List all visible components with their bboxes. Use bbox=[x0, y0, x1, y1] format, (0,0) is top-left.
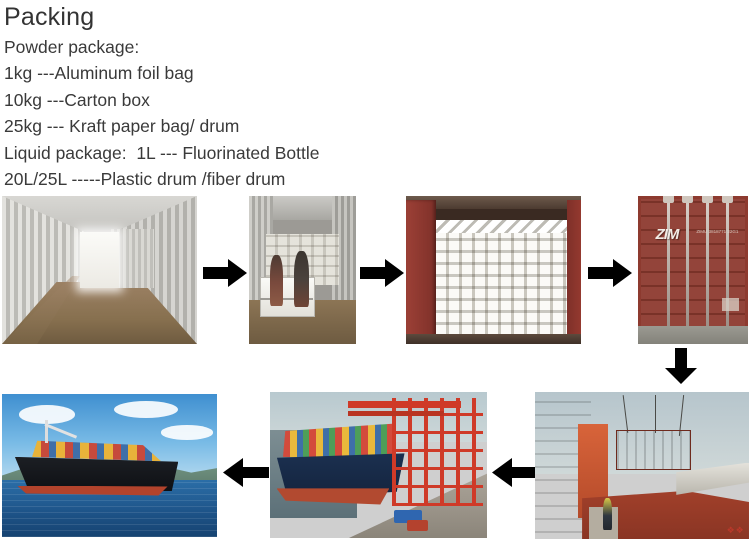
packing-detail-line: Powder package: bbox=[4, 34, 524, 60]
container-locking-rod bbox=[706, 199, 709, 332]
container-locking-rod bbox=[726, 199, 729, 332]
container-truck bbox=[407, 520, 429, 530]
stacked-bags bbox=[436, 220, 567, 334]
gantry-crane-boom bbox=[348, 411, 443, 416]
worker-figure bbox=[294, 251, 309, 307]
packing-detail-line: Liquid package: 1L --- Fluorinated Bottl… bbox=[4, 140, 524, 166]
photo-ship-at-sea bbox=[2, 394, 217, 537]
photo-empty-container bbox=[2, 196, 197, 344]
zim-logo-text: ZIM bbox=[656, 226, 679, 243]
packing-detail-line: 1kg ---Aluminum foil bag bbox=[4, 60, 524, 86]
dock-worker bbox=[603, 498, 612, 530]
arrow-right-icon bbox=[203, 258, 247, 288]
photo-ship-at-port bbox=[270, 392, 487, 538]
lifting-wire bbox=[655, 395, 656, 433]
ground-surface bbox=[638, 326, 748, 344]
container-door-right bbox=[567, 200, 581, 339]
packing-details-list: Powder package: 1kg ---Aluminum foil bag… bbox=[4, 34, 524, 192]
arrow-left-icon bbox=[492, 457, 538, 488]
photo-crane-lifting: ❖❖ bbox=[535, 392, 749, 539]
gantry-crane-boom bbox=[348, 401, 461, 408]
watermark-text: ❖❖ bbox=[727, 525, 745, 536]
photo-filled-container bbox=[406, 196, 581, 344]
container-door-left bbox=[406, 200, 436, 339]
packing-detail-line: 25kg --- Kraft paper bag/ drum bbox=[4, 113, 524, 139]
cloud bbox=[161, 425, 213, 439]
arrow-right-icon bbox=[360, 258, 404, 288]
suspended-container bbox=[616, 430, 691, 470]
packing-detail-line: 20L/25L -----Plastic drum /fiber drum bbox=[4, 166, 524, 192]
container-code-text: ZIMU 3818771 22G1 bbox=[696, 229, 742, 235]
photo-sealed-container: ZIM ZIMU 3818771 22G1 bbox=[638, 196, 748, 344]
container-locking-rod bbox=[667, 199, 670, 332]
container-data-plate bbox=[722, 298, 740, 311]
container-doorway-light bbox=[80, 232, 119, 288]
arrow-right-icon bbox=[588, 258, 632, 288]
container-locking-rod bbox=[686, 199, 689, 332]
arrow-left-icon bbox=[223, 457, 269, 488]
photo-loading-bags bbox=[249, 196, 356, 344]
page-title: Packing bbox=[4, 2, 94, 32]
arrow-down-icon bbox=[664, 348, 698, 384]
container-bottom-rail bbox=[406, 334, 581, 344]
packing-detail-line: 10kg ---Carton box bbox=[4, 87, 524, 113]
worker-figure bbox=[270, 255, 283, 305]
packing-section: Packing Powder package: 1kg ---Aluminum … bbox=[0, 0, 749, 539]
